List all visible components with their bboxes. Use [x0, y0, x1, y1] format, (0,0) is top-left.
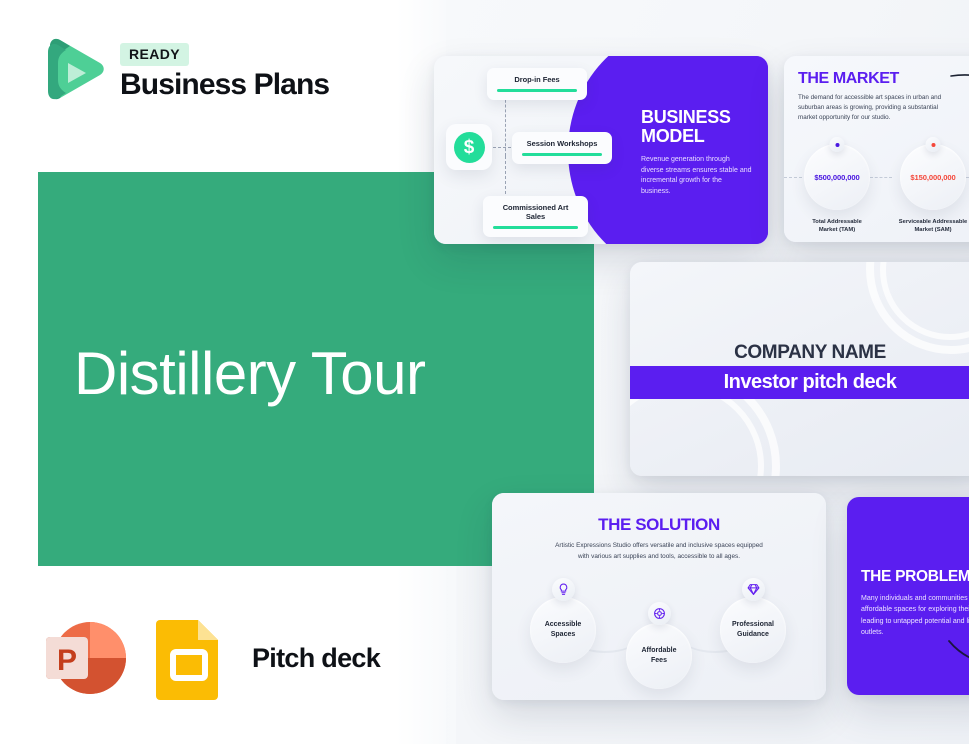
market-amount: $500,000,000 [804, 173, 870, 182]
market-caption: Total Addressable Market (TAM) [793, 218, 881, 235]
solution-node-label: Professional Guidance [732, 620, 774, 640]
format-label: Pitch deck [252, 643, 380, 674]
diamond-icon [742, 578, 765, 601]
bm-item-1[interactable]: Session Workshops [512, 132, 612, 164]
market-dots-mid [870, 177, 892, 178]
brand-logo-block[interactable]: READY Business Plans [40, 36, 329, 108]
brand-text: READY Business Plans [120, 43, 329, 102]
bm-item-label: Drop-in Fees [497, 75, 577, 84]
slide-company-name[interactable]: COMPANY NAME Investor pitch deck [630, 262, 969, 476]
bm-item-0[interactable]: Drop-in Fees [487, 68, 587, 100]
company-subtitle-band: Investor pitch deck [630, 366, 969, 399]
svg-text:P: P [57, 644, 77, 677]
play-triangle-logo-icon [40, 36, 106, 108]
powerpoint-icon[interactable]: P [40, 612, 132, 704]
bm-item-label: Commissioned Art Sales [493, 203, 578, 221]
swoosh-decoration-icon [947, 637, 969, 671]
slide-the-solution[interactable]: THE SOLUTION Artistic Expressions Studio… [492, 493, 826, 700]
company-subtitle: Investor pitch deck [724, 371, 897, 394]
market-title: THE MARKET [798, 70, 899, 88]
solution-title: THE SOLUTION [492, 515, 826, 535]
market-amount: $150,000,000 [900, 173, 966, 182]
problem-title: THE PROBLEM [861, 568, 969, 586]
lightbulb-icon [552, 578, 575, 601]
business-model-description: Revenue generation through diverse strea… [641, 155, 753, 197]
problem-description: Many individuals and communities lack ac… [861, 593, 969, 638]
bm-item-2[interactable]: Commissioned Art Sales [483, 196, 588, 237]
business-model-title: BUSINESS MODEL [641, 108, 731, 147]
bm-item-label: Session Workshops [522, 139, 602, 148]
company-name: COMPANY NAME [630, 342, 969, 364]
dollar-sign-icon: $ [446, 124, 492, 170]
dial-knob-icon [830, 137, 845, 152]
slide-the-problem[interactable]: THE PROBLEM Many individuals and communi… [847, 497, 969, 695]
market-description: The demand for accessible art spaces in … [798, 93, 953, 124]
solution-node-0[interactable]: Accessible Spaces [530, 597, 596, 663]
market-dial-tam: $500,000,000 Total Addressable Market (T… [804, 144, 870, 210]
format-row: P Pitch deck [40, 612, 380, 704]
market-dial-sam: $150,000,000 Serviceable Addressable Mar… [900, 144, 966, 210]
brand-name: Business Plans [120, 68, 329, 102]
ready-badge: READY [120, 43, 189, 66]
curved-arrow-icon [949, 70, 969, 112]
market-caption: Serviceable Addressable Market (SAM) [889, 218, 969, 235]
solution-node-2[interactable]: Professional Guidance [720, 597, 786, 663]
solution-node-label: Accessible Spaces [545, 620, 582, 640]
solution-node-label: Affordable Fees [642, 646, 677, 666]
bm-item-bar [497, 89, 577, 92]
page-title: Distillery Tour [74, 342, 425, 405]
market-dots-left [784, 177, 802, 178]
screenshot-stage: Distillery Tour READY Business Plans [0, 0, 969, 744]
slide-the-market[interactable]: THE MARKET The demand for accessible art… [784, 56, 969, 242]
solution-description: Artistic Expressions Studio offers versa… [549, 541, 769, 563]
dial-knob-icon [926, 137, 941, 152]
solution-node-1[interactable]: Affordable Fees [626, 623, 692, 689]
google-slides-icon[interactable] [154, 616, 224, 700]
bm-item-bar [493, 226, 578, 229]
bm-item-bar [522, 153, 602, 156]
target-icon [648, 602, 671, 625]
